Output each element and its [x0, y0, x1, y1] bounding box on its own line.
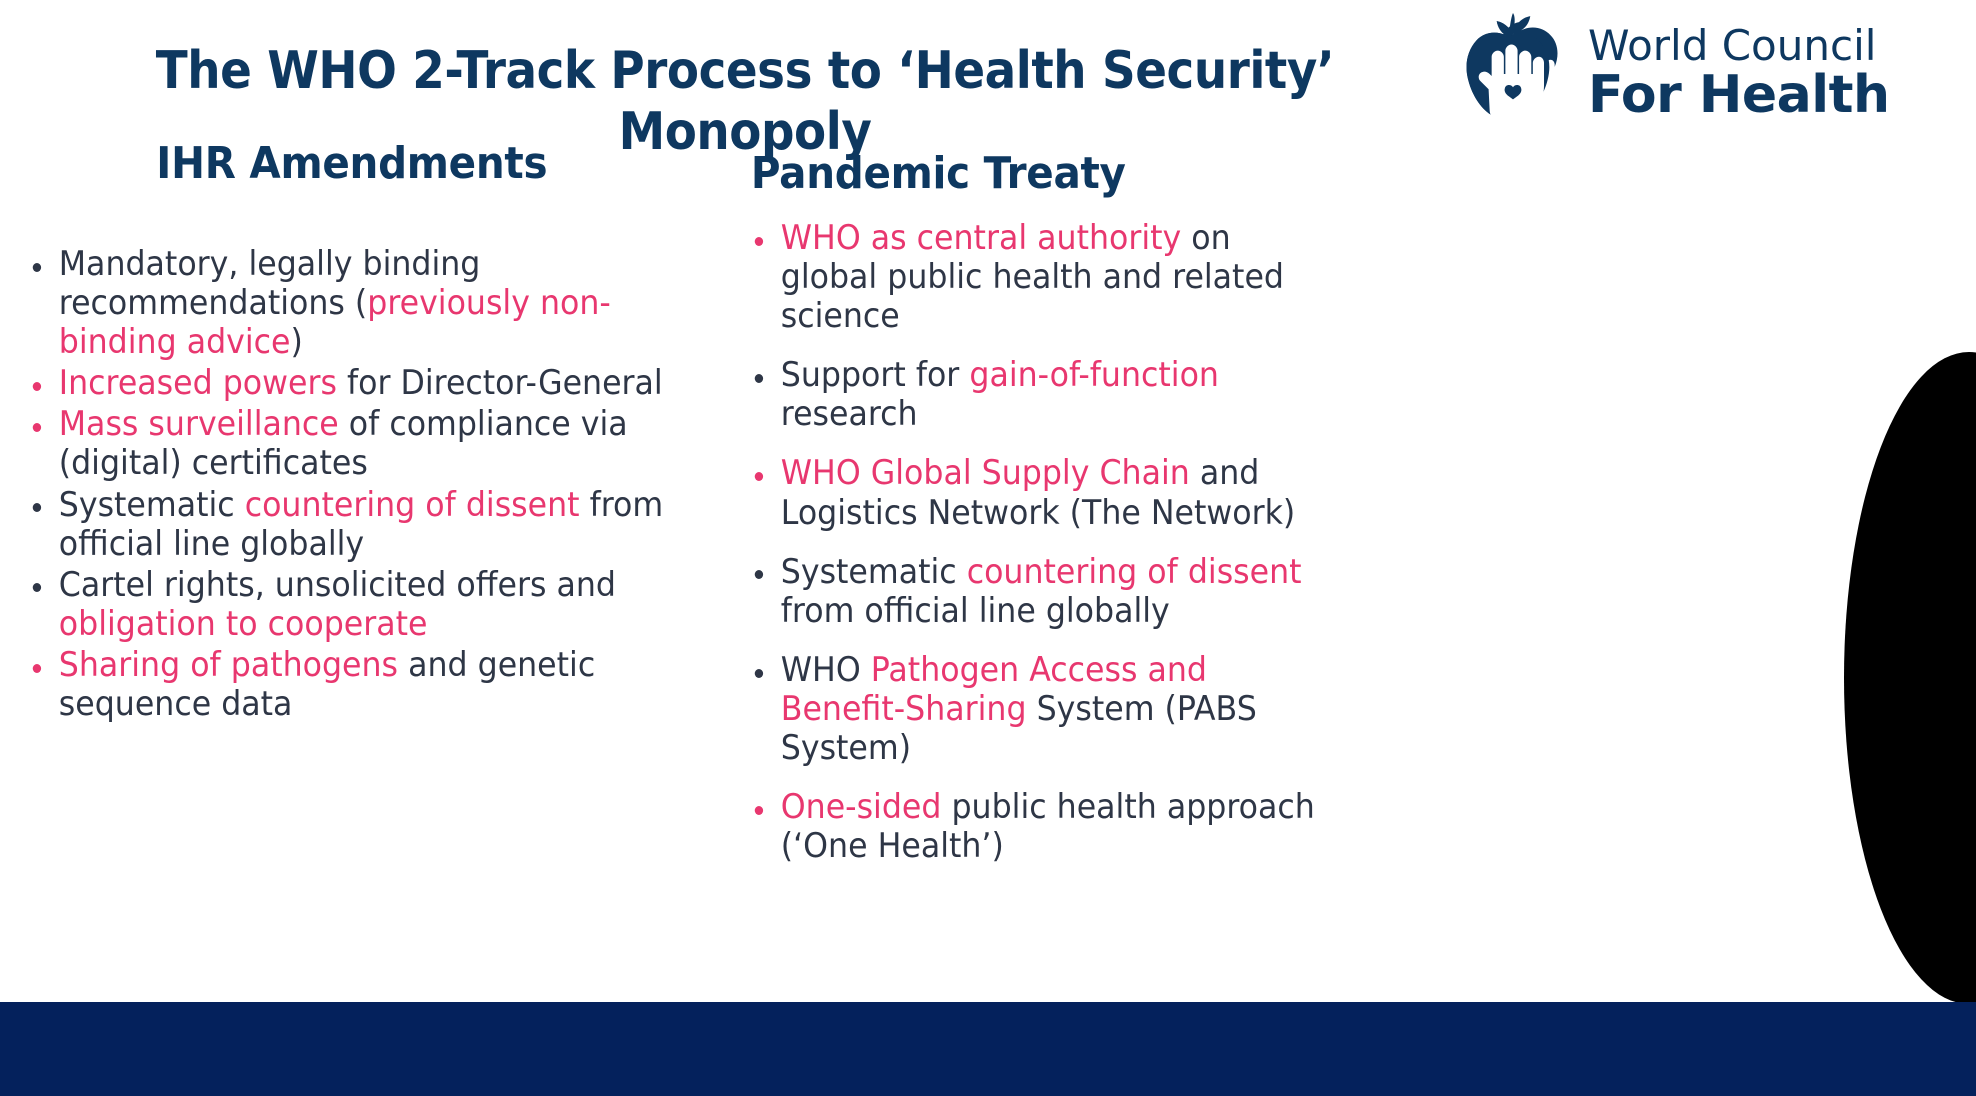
bullet-text: research: [781, 394, 918, 434]
bullet-dot-icon: [33, 423, 41, 432]
logo-wordmark: World Council For Health: [1588, 25, 1889, 121]
bullet-item: WHO Global Supply Chain and Logistics Ne…: [738, 454, 1333, 532]
bullet-item: One-sided public health approach (‘One H…: [738, 788, 1333, 866]
bullet-item: Cartel rights, unsolicited offers and ob…: [16, 566, 667, 644]
bullet-text-highlight: countering of dissent: [245, 485, 580, 525]
bullet-item: WHO Pathogen Access and Benefit-Sharing …: [738, 651, 1333, 768]
bullet-dot-icon: [33, 382, 41, 391]
bullet-dot-icon: [33, 263, 41, 272]
bullet-text: ): [290, 322, 302, 362]
bullet-item: Sharing of pathogens and genetic sequenc…: [16, 646, 667, 724]
bullet-text-highlight: Increased powers: [59, 363, 337, 403]
bullet-item: WHO as central authority on global publi…: [738, 219, 1333, 336]
bullet-dot-icon: [755, 570, 763, 579]
bottom-navy-bar: [0, 1002, 1976, 1096]
bullet-text-highlight: countering of dissent: [967, 552, 1302, 592]
bullet-text-highlight: obligation to cooperate: [59, 604, 428, 644]
bullet-dot-icon: [33, 583, 41, 592]
column-heading-ihr: IHR Amendments: [16, 138, 660, 189]
world-council-for-health-logo: World Council For Health: [1452, 12, 1889, 134]
logo-line-1: World Council: [1588, 25, 1889, 67]
bullet-item: Increased powers for Director-General: [16, 364, 667, 403]
bullet-text: Support for: [781, 355, 970, 395]
logo-line-2: For Health: [1588, 69, 1889, 121]
column-ihr-amendments: IHR Amendments Mandatory, legally bindin…: [16, 138, 716, 726]
bullet-dot-icon: [33, 664, 41, 673]
bullet-text-highlight: WHO as central authority: [781, 218, 1181, 258]
bullet-text-highlight: Sharing of pathogens: [59, 645, 398, 685]
slide-canvas: The WHO 2-Track Process to ‘Health Secur…: [0, 0, 1976, 1096]
bullet-item: Mass surveillance of compliance via (dig…: [16, 405, 667, 483]
bullet-item: Systematic countering of dissent from of…: [738, 553, 1333, 631]
bullet-dot-icon: [33, 503, 41, 512]
bullet-dot-icon: [755, 237, 763, 246]
bullet-text: Cartel rights, unsolicited offers and: [59, 565, 616, 605]
bullet-text: Systematic: [781, 552, 967, 592]
apple-hand-heart-icon: [1452, 12, 1574, 134]
bullet-text-highlight: WHO Global Supply Chain: [781, 453, 1190, 493]
bullet-dot-icon: [755, 806, 763, 815]
bullet-dot-icon: [755, 374, 763, 383]
column-pandemic-treaty: Pandemic Treaty WHO as central authority…: [738, 148, 1378, 886]
bullet-dot-icon: [755, 669, 763, 678]
bullet-list-treaty: WHO as central authority on global publi…: [738, 219, 1378, 866]
bullet-text: from official line globally: [781, 591, 1170, 631]
bullet-text: WHO: [781, 650, 871, 690]
bullet-text-highlight: Mass surveillance: [59, 404, 339, 444]
bullet-text-highlight: One-sided: [781, 787, 942, 827]
column-heading-treaty: Pandemic Treaty: [738, 148, 1327, 199]
bullet-list-ihr: Mandatory, legally binding recommendatio…: [16, 245, 716, 724]
bullet-dot-icon: [755, 472, 763, 481]
bullet-item: Mandatory, legally binding recommendatio…: [16, 245, 667, 362]
bullet-item: Support for gain-of-function research: [738, 356, 1333, 434]
bullet-text-highlight: gain-of-function: [969, 355, 1219, 395]
bullet-item: Systematic countering of dissent from of…: [16, 486, 667, 564]
bullet-text: Systematic: [59, 485, 245, 525]
bullet-text: for Director-General: [337, 363, 663, 403]
decorative-black-ellipse: [1844, 352, 1976, 1004]
